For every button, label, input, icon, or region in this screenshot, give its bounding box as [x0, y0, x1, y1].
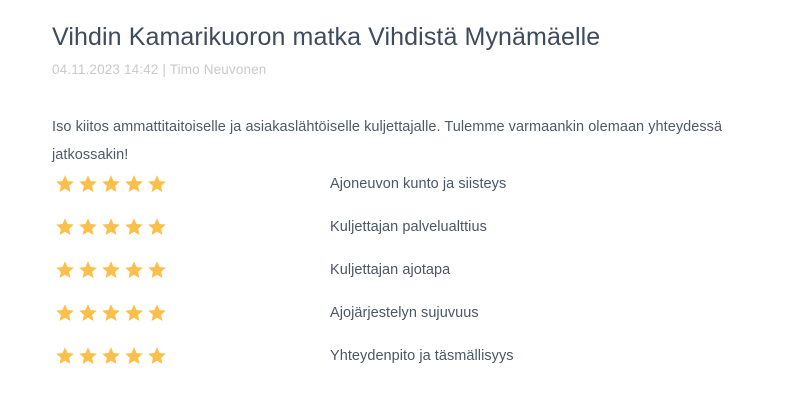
ratings-list: Ajoneuvon kunto ja siisteysKuljettajan p… [0, 162, 800, 377]
rating-label: Ajojärjestelyn sujuvuus [330, 291, 479, 334]
star-filled-icon [55, 303, 75, 323]
star-filled-icon [124, 217, 144, 237]
star-filled-icon [101, 217, 121, 237]
star-filled-icon [55, 174, 75, 194]
rating-label: Ajoneuvon kunto ja siisteys [330, 162, 506, 205]
star-filled-icon [101, 303, 121, 323]
star-filled-icon [78, 260, 98, 280]
rating-row: Yhteydenpito ja täsmällisyys [0, 334, 800, 377]
star-filled-icon [124, 260, 144, 280]
star-filled-icon [124, 174, 144, 194]
rating-label: Yhteydenpito ja täsmällisyys [330, 334, 514, 377]
rating-row: Ajoneuvon kunto ja siisteys [0, 162, 800, 205]
star-filled-icon [55, 346, 75, 366]
star-filled-icon [55, 260, 75, 280]
star-rating [55, 291, 167, 334]
review-body-text: Iso kiitos ammattitaitoiselle ja asiakas… [52, 113, 794, 170]
star-rating [55, 162, 167, 205]
page-title: Vihdin Kamarikuoron matka Vihdistä Mynäm… [52, 22, 600, 53]
star-rating [55, 334, 167, 377]
star-filled-icon [147, 217, 167, 237]
star-rating [55, 248, 167, 291]
star-filled-icon [78, 303, 98, 323]
star-filled-icon [147, 260, 167, 280]
star-filled-icon [78, 174, 98, 194]
rating-row: Ajojärjestelyn sujuvuus [0, 291, 800, 334]
rating-label: Kuljettajan palvelualttius [330, 205, 487, 248]
star-filled-icon [101, 260, 121, 280]
star-filled-icon [147, 346, 167, 366]
review-card: Vihdin Kamarikuoron matka Vihdistä Mynäm… [0, 0, 800, 400]
star-filled-icon [78, 346, 98, 366]
rating-label: Kuljettajan ajotapa [330, 248, 450, 291]
review-meta: 04.11.2023 14:42 | Timo Neuvonen [52, 62, 266, 77]
star-rating [55, 205, 167, 248]
rating-row: Kuljettajan palvelualttius [0, 205, 800, 248]
star-filled-icon [147, 303, 167, 323]
star-filled-icon [124, 303, 144, 323]
star-filled-icon [124, 346, 144, 366]
star-filled-icon [55, 217, 75, 237]
star-filled-icon [101, 174, 121, 194]
rating-row: Kuljettajan ajotapa [0, 248, 800, 291]
star-filled-icon [147, 174, 167, 194]
star-filled-icon [78, 217, 98, 237]
star-filled-icon [101, 346, 121, 366]
